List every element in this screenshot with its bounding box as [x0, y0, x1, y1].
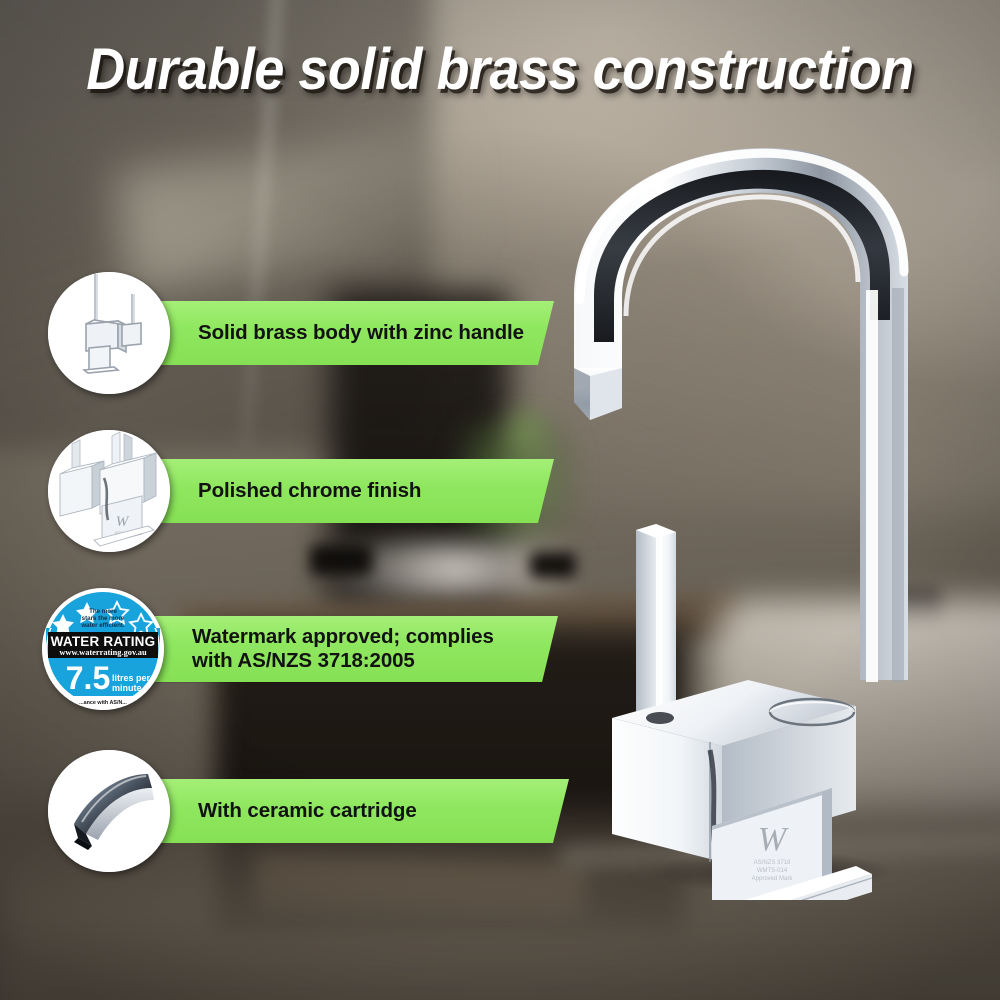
svg-text:Approved Mark: Approved Mark: [752, 876, 794, 882]
headline-title: Durable solid brass construction: [35, 36, 965, 103]
svg-text:W: W: [116, 514, 130, 530]
svg-text:AS/NZS 3718: AS/NZS 3718: [754, 860, 791, 866]
feature-text: Watermark approved; complies with AS/NZS…: [192, 625, 532, 673]
wels-tagline-line3: water efficient.: [80, 622, 125, 629]
svg-text:W: W: [758, 821, 789, 858]
feature-text: Solid brass body with zinc handle: [198, 321, 524, 345]
faucet-body-outline-icon: [48, 272, 170, 394]
wels-footer: ...ance with AS/N...: [79, 700, 127, 706]
feature-callout-watermark-approved: The more stars the more water efficient.…: [42, 588, 558, 710]
feature-banner: With ceramic cartridge: [156, 779, 569, 843]
feature-text: With ceramic cartridge: [198, 799, 417, 823]
feature-banner: Watermark approved; complies with AS/NZS…: [150, 616, 558, 682]
wels-tagline-line1: The more: [89, 608, 117, 615]
wels-title: WATER RATING: [51, 634, 156, 649]
feature-banner: Polished chrome finish: [156, 459, 554, 523]
faucet-lever-handle: [636, 524, 676, 716]
feature-callout-ceramic-cartridge: With ceramic cartridge: [48, 750, 569, 872]
faucet-base-chrome-icon: W AS/NZS: [48, 430, 170, 552]
svg-text:WMTS-014: WMTS-014: [757, 868, 788, 874]
curved-spout-icon: [48, 750, 170, 872]
wels-value: 7.5: [66, 660, 110, 696]
water-rating-badge-icon: The more stars the more water efficient.…: [42, 588, 164, 710]
product-faucet-image: W AS/NZS 3718 WMTS-014 Approved Mark: [560, 120, 980, 900]
feature-callout-solid-brass-body: Solid brass body with zinc handle: [48, 272, 554, 394]
wels-tagline-line2: stars the more: [82, 615, 125, 622]
wels-url: www.waterrating.gov.au: [59, 648, 147, 657]
product-feature-image: Durable solid brass construction: [0, 0, 1000, 1000]
wels-unit-2: minute: [112, 683, 142, 693]
feature-callout-polished-chrome: W AS/NZS Polished chrome finish: [48, 430, 554, 552]
feature-banner: Solid brass body with zinc handle: [156, 301, 554, 365]
wels-unit-1: litres per: [112, 673, 151, 683]
feature-text: Polished chrome finish: [198, 479, 421, 503]
